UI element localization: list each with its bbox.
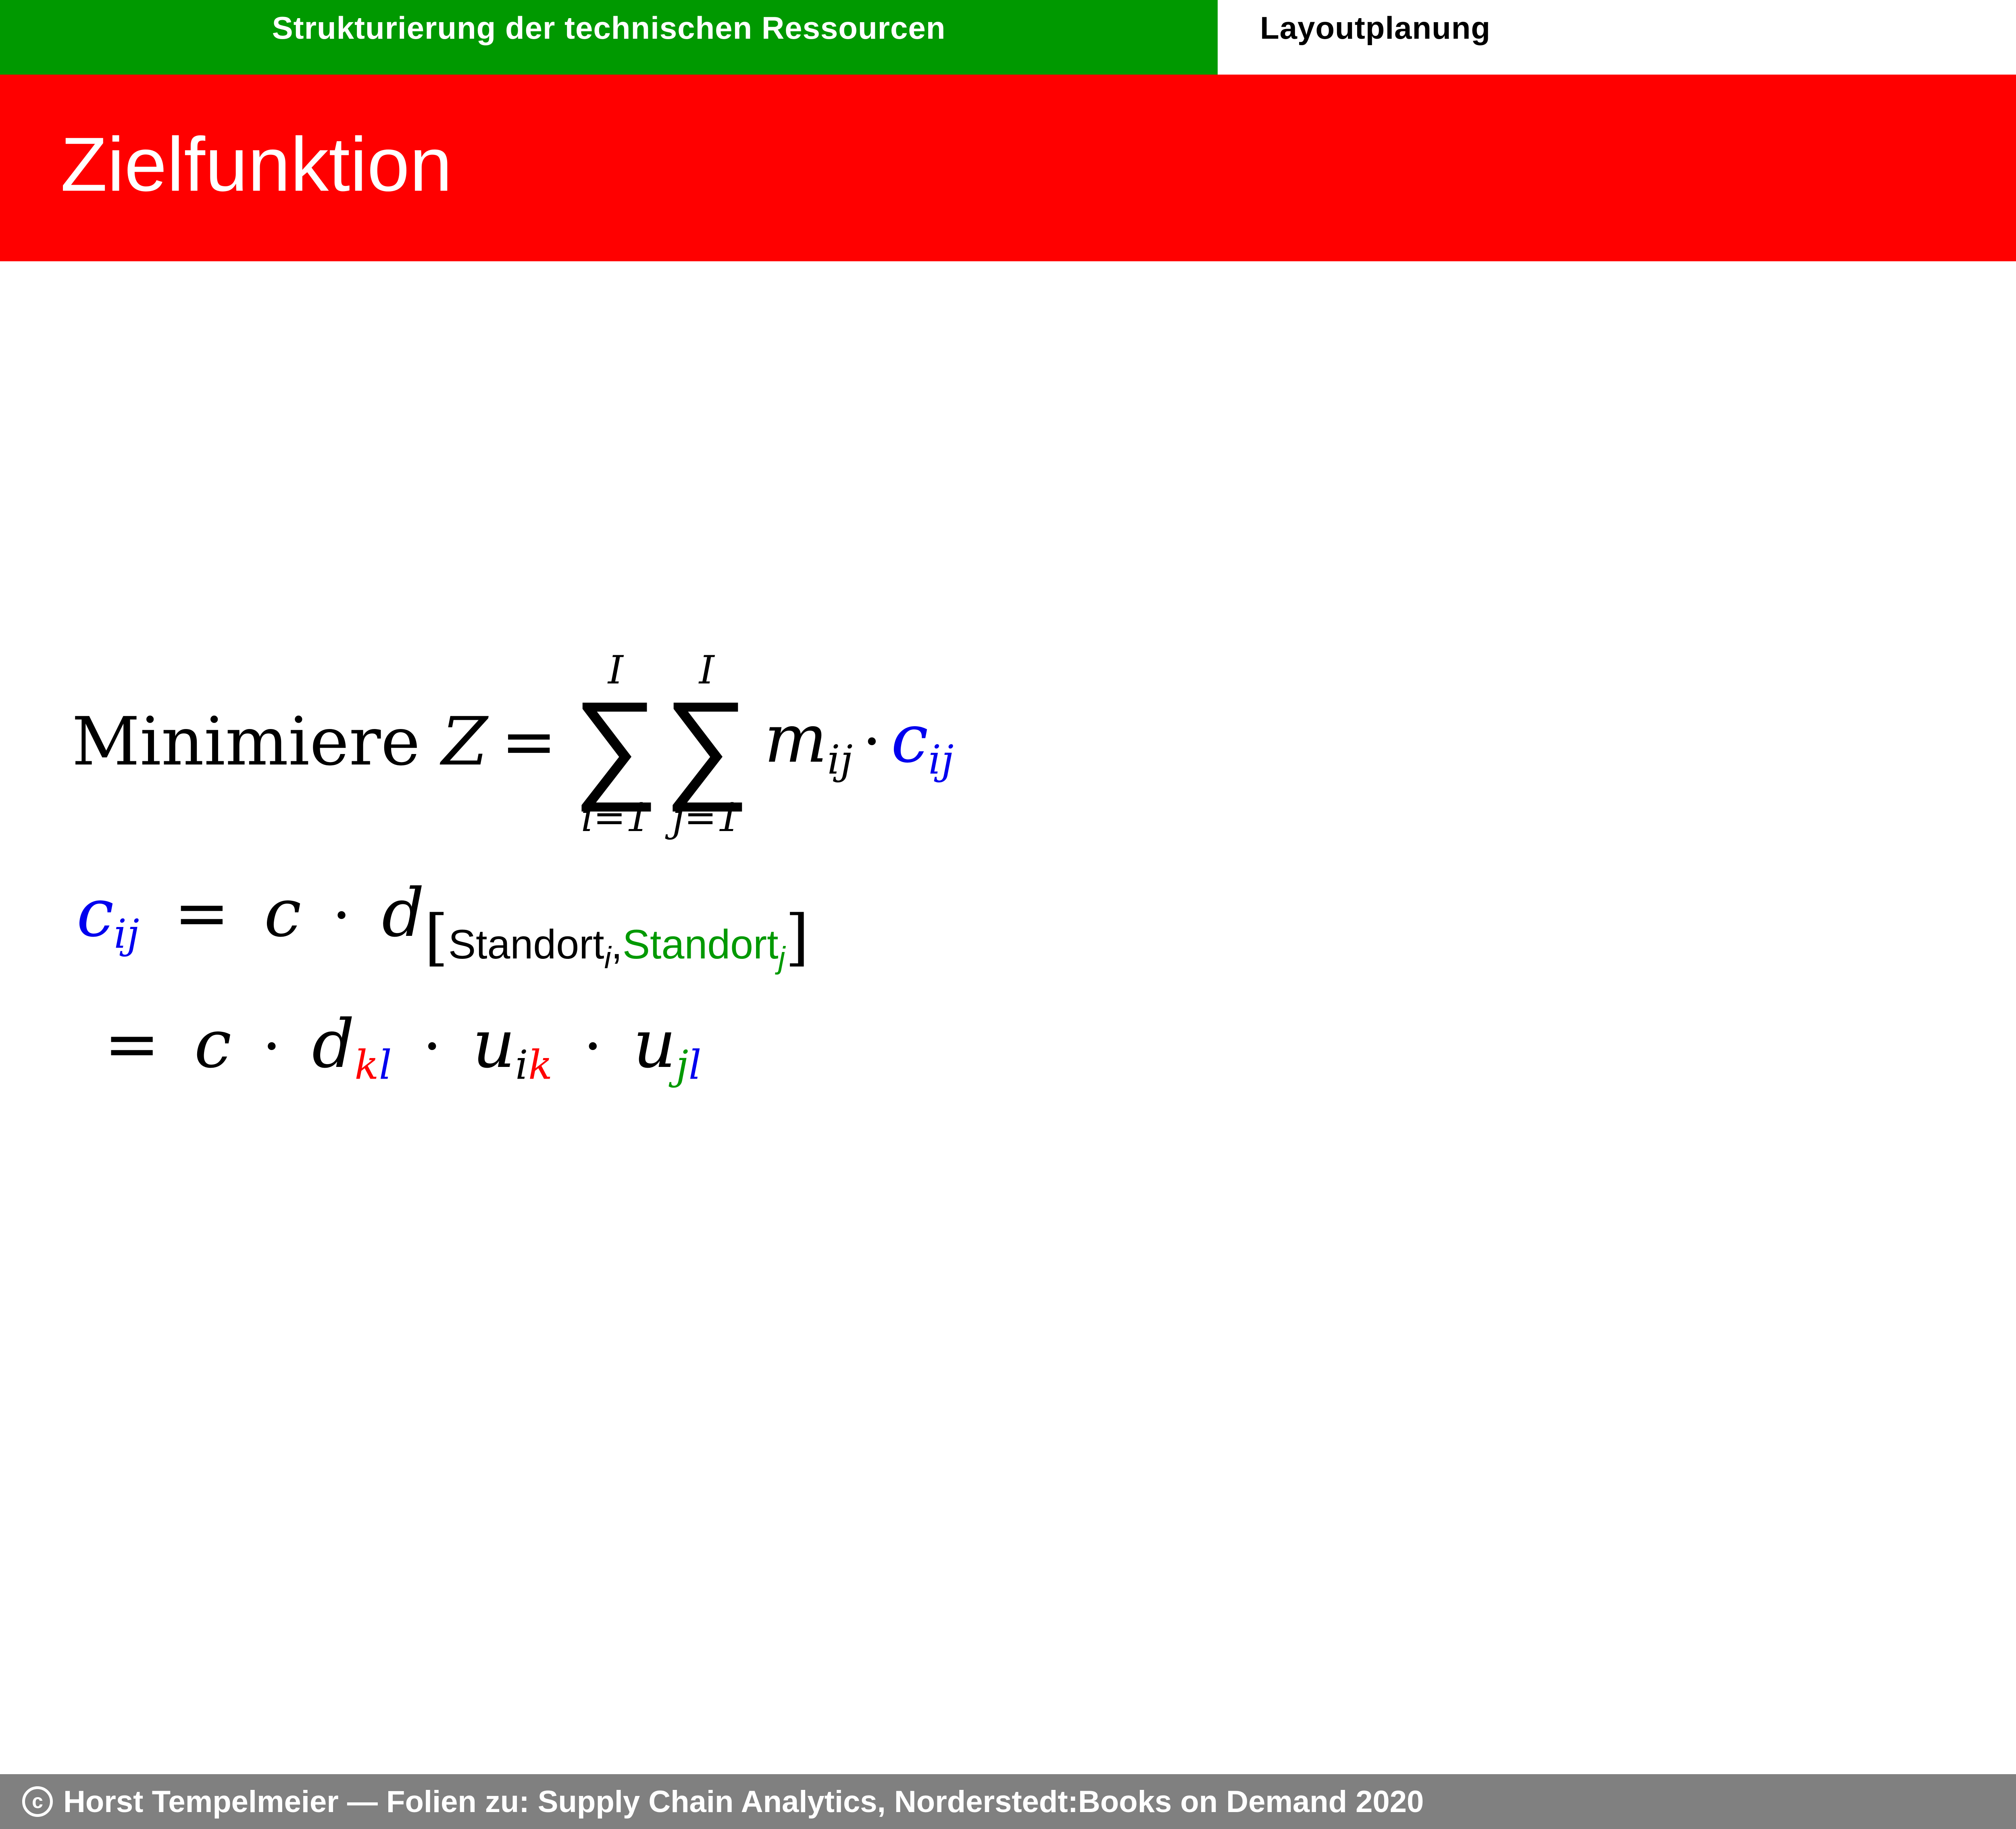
standort-i-word: Standort <box>448 921 604 967</box>
multiplication-dot-1: · <box>853 707 891 777</box>
nav-section-strukturierung[interactable]: Strukturierung der technischen Ressource… <box>0 0 1218 75</box>
assignment-u-jl: ujl <box>633 1005 702 1083</box>
sigma-glyph-1: ∑ <box>573 694 659 795</box>
assignment-u1-sub-k: k <box>528 1042 553 1089</box>
page-title: Zielfunktion <box>0 126 452 203</box>
assignment-u1-base: u <box>473 1005 515 1083</box>
assignment-u1-sub-i: i <box>515 1042 528 1089</box>
slide-root: Strukturierung der technischen Ressource… <box>0 0 2016 1829</box>
nav-subsection-label: Layoutplanung <box>1260 10 1491 46</box>
summation-inner: I ∑ j=1 <box>664 651 750 837</box>
copyright-icon: c <box>22 1786 53 1817</box>
assignment-u2-sub-l: l <box>689 1042 702 1089</box>
term-c-base: c <box>891 700 928 777</box>
navigation-bar: Strukturierung der technischen Ressource… <box>0 0 2016 75</box>
distance-sub-k: k <box>354 1042 379 1089</box>
term-m-subscript: ij <box>827 737 853 783</box>
term-m-base: m <box>764 700 827 777</box>
assignment-u2-sub-j: j <box>676 1042 689 1089</box>
equation-cost-expanded: = c · dkl · uik · ujl <box>91 1005 702 1089</box>
distance-sub-l: l <box>379 1042 392 1089</box>
standort-j-label: Standortj <box>623 921 785 967</box>
nav-subsection-layoutplanung[interactable]: Layoutplanung <box>1218 0 1491 75</box>
sum-lower-limit-1: i=1 <box>581 798 650 837</box>
standort-j-index: j <box>779 941 785 975</box>
title-bar: Zielfunktion <box>0 75 2016 261</box>
equation-cost-definition: cij = c · d[Standorti,Standortj] <box>77 874 809 975</box>
standort-i-label: Standorti <box>448 921 611 967</box>
multiplication-dot-5: · <box>574 1012 612 1081</box>
bracket-open: [ <box>425 902 448 973</box>
term-c-subscript: ij <box>928 737 954 783</box>
multiplication-dot-3: · <box>253 1012 291 1081</box>
equals-sign-1: = <box>488 703 570 780</box>
footer-credit-group: c Horst Tempelmeier — Folien zu: Supply … <box>0 1784 1424 1819</box>
assignment-u-ik: uik <box>473 1005 553 1083</box>
cost-rate-c: c <box>264 874 301 952</box>
term-c-ij: cij <box>891 700 954 783</box>
summation-outer: I ∑ i=1 <box>573 651 659 837</box>
sigma-glyph-2: ∑ <box>664 694 750 795</box>
slide-body: Minimiere Z = I ∑ i=1 I ∑ j=1 mij · cij … <box>0 261 2016 1747</box>
lhs-c-subscript: ij <box>114 911 139 958</box>
distance-d: d <box>382 874 425 952</box>
standort-i-index: i <box>604 941 611 975</box>
footer-credit-text: Horst Tempelmeier — Folien zu: Supply Ch… <box>63 1784 1424 1819</box>
assignment-u2-base: u <box>633 1005 676 1083</box>
cost-rate-c-2: c <box>194 1005 231 1083</box>
equation-lead-word: Minimiere <box>72 703 420 780</box>
distance-subscript-group: [Standorti,Standortj] <box>425 897 809 975</box>
lhs-c-ij: cij <box>77 874 140 952</box>
lhs-c-base: c <box>77 874 114 952</box>
variable-z: Z <box>442 703 488 780</box>
distance-d-base: d <box>312 1005 355 1083</box>
sum-lower-limit-2: j=1 <box>672 798 741 837</box>
equals-sign-3: = <box>91 1005 173 1083</box>
equals-sign-2: = <box>160 874 243 952</box>
term-m: mij <box>764 700 853 783</box>
standort-j-word: Standort <box>623 921 779 967</box>
footer-bar: c Horst Tempelmeier — Folien zu: Supply … <box>0 1774 2016 1829</box>
distance-d-kl: dkl <box>312 1005 392 1083</box>
subscript-comma: , <box>611 921 622 967</box>
nav-section-active-label: Strukturierung der technischen Ressource… <box>272 10 946 46</box>
bracket-close: ] <box>785 902 809 973</box>
multiplication-dot-2: · <box>323 881 361 950</box>
equation-objective-function: Minimiere Z = I ∑ i=1 I ∑ j=1 mij · cij <box>72 648 954 835</box>
multiplication-dot-4: · <box>413 1012 452 1081</box>
